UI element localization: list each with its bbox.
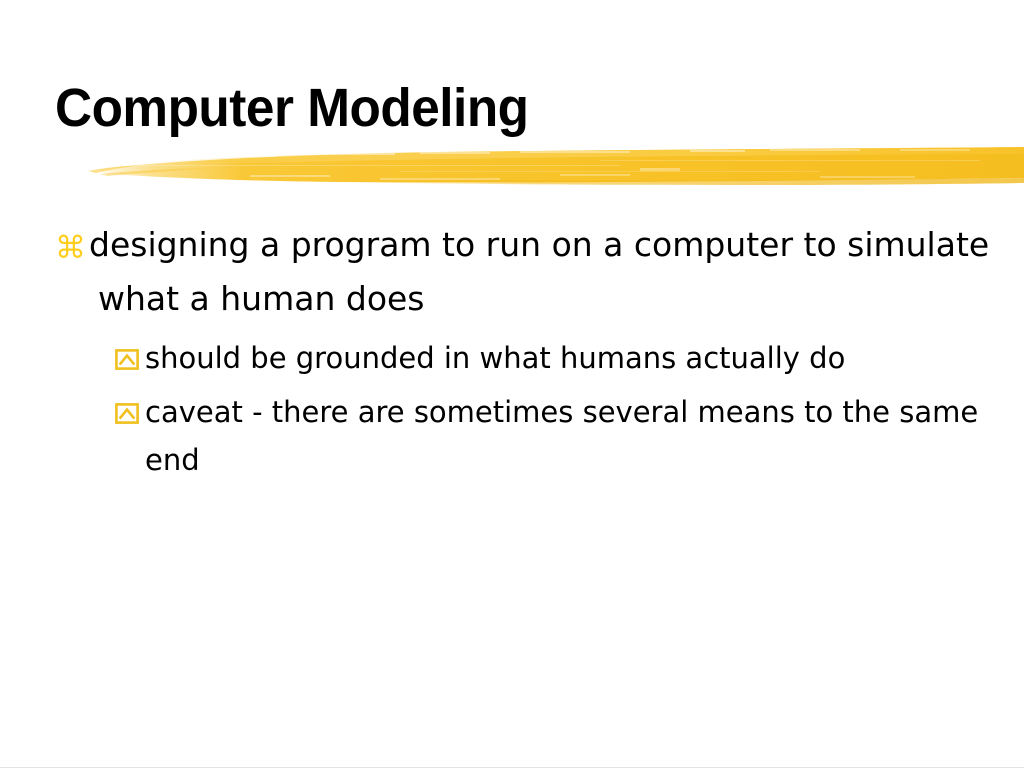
bullet-level1: ⌘designing a program to run on a compute… <box>0 218 1024 326</box>
yellow-brush-stroke-divider <box>0 138 1024 194</box>
bullet-level2-text: should be grounded in what humans actual… <box>145 341 845 375</box>
command-bullet-icon: ⌘ <box>55 233 89 264</box>
bullet-level2: caveat - there are sometimes several mea… <box>0 388 1024 484</box>
framed-chevron-bullet-icon <box>115 349 145 371</box>
bullet-level1-text: designing a program to run on a computer… <box>89 225 989 318</box>
bullet-level2-text: caveat - there are sometimes several mea… <box>145 395 978 477</box>
slide-body: ⌘designing a program to run on a compute… <box>0 218 1024 490</box>
presentation-slide: Computer Modeling <box>0 0 1024 768</box>
page-title: Computer Modeling <box>55 78 529 138</box>
bullet-level2: should be grounded in what humans actual… <box>0 334 1024 382</box>
framed-chevron-bullet-icon <box>115 403 145 425</box>
